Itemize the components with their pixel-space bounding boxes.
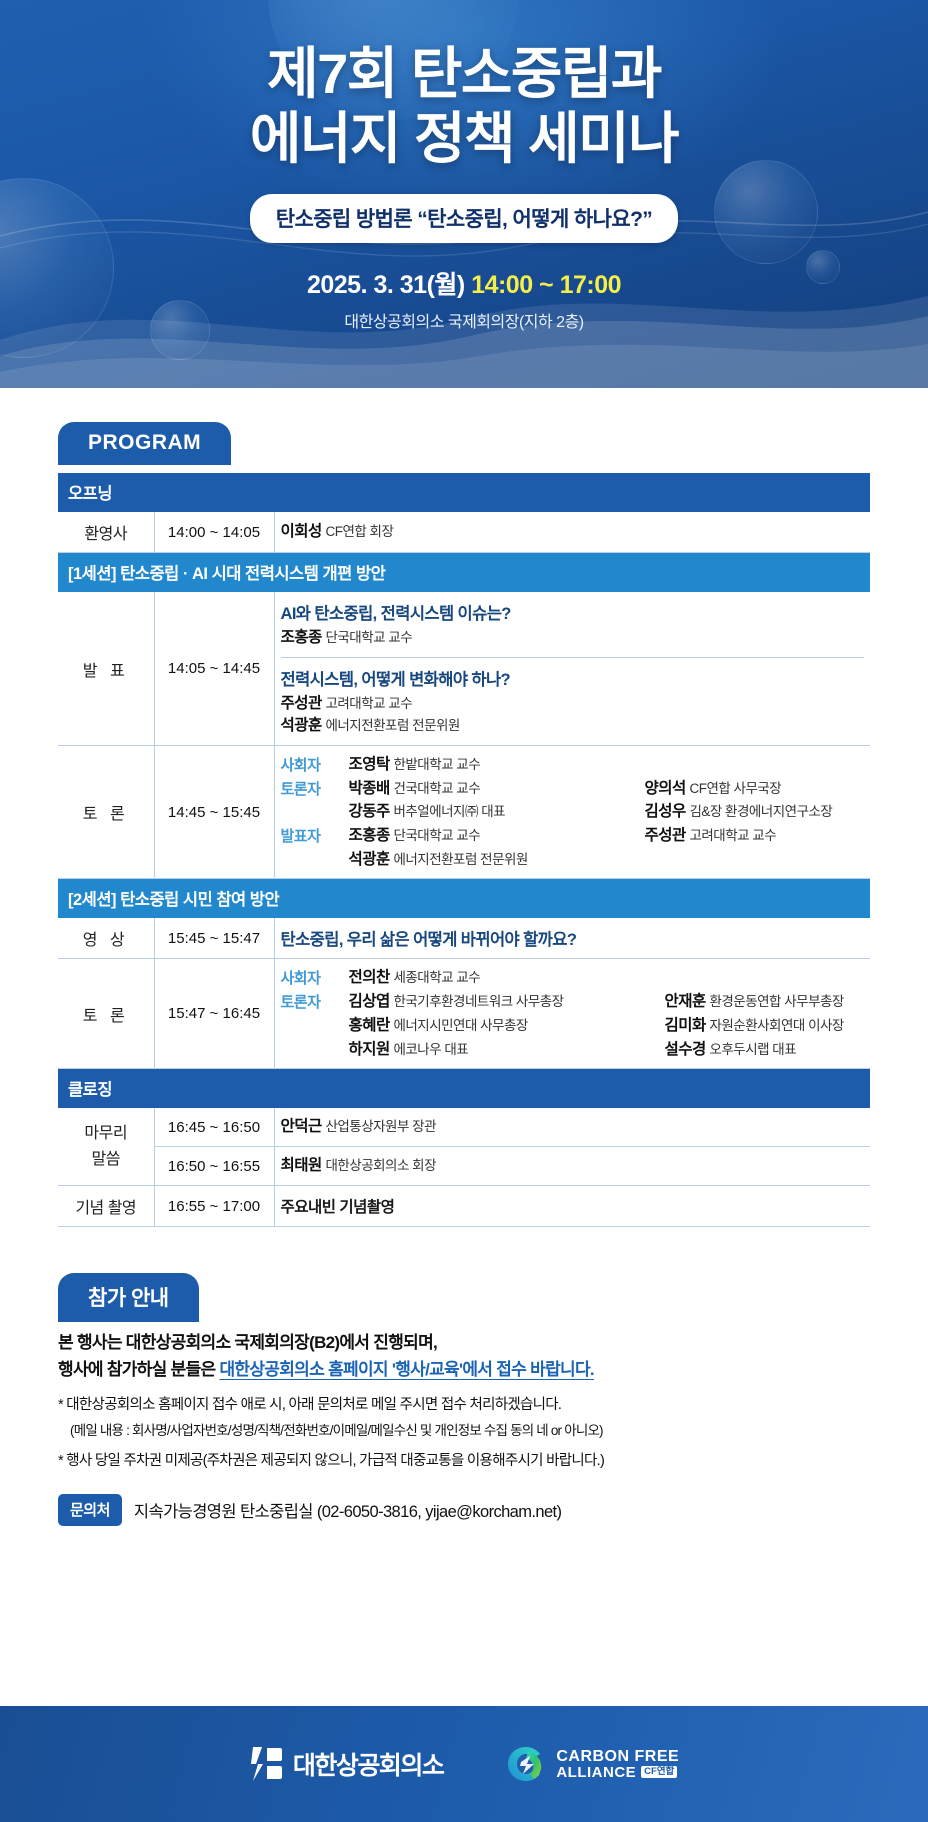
speaker-name: 안재훈	[665, 993, 706, 1010]
cfa-line-1: CARBON FREE	[556, 1748, 679, 1765]
band-opening: 오프닝	[58, 473, 870, 512]
speaker-name: 조홍종	[349, 827, 390, 844]
discussion-person: 설수경 오후두시랩 대표	[665, 1039, 865, 1061]
poster-title: 제7회 탄소중립과 에너지 정책 세미나	[0, 0, 928, 172]
contact-value: 지속가능경영원 탄소중립실 (02-6050-3816, yijae@korch…	[134, 1498, 562, 1522]
notice-lead: 본 행사는 대한상공회의소 국제회의장(B2)에서 진행되며, 행사에 참가하실…	[58, 1330, 870, 1383]
speaker-name: 주성관	[645, 827, 686, 844]
speaker-name: 석광훈	[281, 717, 322, 734]
row-kind: 토 론	[58, 746, 154, 879]
speaker-affiliation: 버추얼에너지㈜ 대표	[393, 804, 505, 819]
discussion-person: 강동주 버추얼에너지㈜ 대표	[349, 801, 639, 823]
row-kind: 마무리 말씀	[58, 1108, 154, 1186]
table-row-photo: 기념 촬영 16:55 ~ 17:00 주요내빈 기념촬영	[58, 1186, 870, 1227]
presentation-speaker: 조홍종 단국대학교 교수	[281, 627, 865, 649]
row-kind: 발 표	[58, 592, 154, 746]
presentation-item: AI와 탄소중립, 전력시스템 이슈는? 조홍종 단국대학교 교수	[281, 600, 865, 657]
contact-row: 문의처 지속가능경영원 탄소중립실 (02-6050-3816, yijae@k…	[58, 1494, 870, 1526]
discussion-grid: 사회자 전의찬 세종대학교 교수 토론자	[281, 967, 865, 1060]
speaker-name: 주성관	[281, 695, 322, 712]
speaker-name: 홍혜란	[349, 1017, 390, 1034]
event-time: 14:00 ~ 17:00	[471, 271, 621, 299]
band-closing-label: 클로징	[58, 1069, 870, 1109]
speaker-name: 석광훈	[349, 851, 390, 868]
poster-subtitle: 탄소중립 방법론 “탄소중립, 어떻게 하나요?”	[250, 194, 678, 243]
row-time: 14:05 ~ 14:45	[154, 592, 274, 746]
row-kind: 토 론	[58, 959, 154, 1069]
row-content: 이회성 CF연합 회장	[274, 512, 870, 553]
table-row-video: 영 상 15:45 ~ 15:47 탄소중립, 우리 삶은 어떻게 바뀌어야 할…	[58, 918, 870, 959]
discussion-person: 김성우 김&장 환경에너지연구소장	[645, 801, 865, 823]
row-kind: 영 상	[58, 918, 154, 959]
speaker-affiliation: 한국기후환경네트워크 사무총장	[393, 994, 563, 1009]
discussion-person: 홍혜란 에너지시민연대 사무총장	[349, 1015, 659, 1037]
presentation-speaker: 석광훈 에너지전환포럼 전문위원	[281, 715, 865, 737]
discussion-person: 석광훈 에너지전환포럼 전문위원	[349, 849, 639, 871]
row-content: 안덕근 산업통상자원부 장관	[274, 1108, 870, 1147]
speaker-affiliation: 고려대학교 교수	[325, 696, 412, 711]
table-row-discussion-1: 토 론 14:45 ~ 15:45 사회자 조영탁 한밭대학교 교수	[58, 746, 870, 879]
speaker-affiliation: 단국대학교 교수	[393, 828, 480, 843]
speaker-affiliation: 한밭대학교 교수	[393, 757, 480, 772]
speaker-affiliation: 오후두시랩 대표	[709, 1042, 796, 1057]
table-row-presentation: 발 표 14:05 ~ 14:45 AI와 탄소중립, 전력시스템 이슈는? 조…	[58, 592, 870, 746]
notice-tab-row: 참가 안내	[58, 1273, 870, 1322]
closing-kind-line-1: 마무리	[84, 1125, 127, 1142]
speaker-affiliation: CF연합 회장	[325, 524, 393, 539]
speaker-name: 설수경	[665, 1041, 706, 1058]
row-content: 탄소중립, 우리 삶은 어떻게 바뀌어야 할까요?	[274, 918, 870, 959]
speaker-name: 김미화	[665, 1017, 706, 1034]
seminar-poster: 제7회 탄소중립과 에너지 정책 세미나 탄소중립 방법론 “탄소중립, 어떻게…	[0, 0, 928, 1822]
speaker-name: 전의찬	[349, 969, 390, 986]
table-row-discussion-2: 토 론 15:47 ~ 16:45 사회자 전의찬 세종대학교 교수	[58, 959, 870, 1069]
table-row-closing-1: 마무리 말씀 16:45 ~ 16:50 안덕근 산업통상자원부 장관	[58, 1108, 870, 1147]
band-opening-label: 오프닝	[58, 473, 870, 512]
row-time: 16:50 ~ 16:55	[154, 1147, 274, 1186]
notice-star-1: * 대한상공회의소 홈페이지 접수 애로 시, 아래 문의처로 메일 주시면 접…	[58, 1395, 870, 1417]
speaker-name: 강동주	[349, 803, 390, 820]
speaker-affiliation: 세종대학교 교수	[393, 970, 480, 985]
speaker-name: 최태원	[281, 1157, 322, 1174]
photo-text: 주요내빈 기념촬영	[281, 1199, 395, 1216]
speaker-name: 양의석	[645, 780, 686, 797]
program-tab-row: PROGRAM	[58, 422, 870, 465]
band-session1-label: [1세션] 탄소중립 · AI 시대 전력시스템 개편 방안	[58, 553, 870, 593]
speaker-affiliation: 김&장 환경에너지연구소장	[689, 804, 832, 819]
presentation-item: 전력시스템, 어떻게 변화해야 하나? 주성관 고려대학교 교수 석광훈 에너지…	[281, 657, 865, 737]
notice-section-tab: 참가 안내	[58, 1273, 199, 1322]
kcci-logo: 대한상공회의소	[249, 1745, 444, 1783]
speaker-affiliation: 단국대학교 교수	[325, 630, 412, 645]
speaker-name: 하지원	[349, 1041, 390, 1058]
speaker-name: 김성우	[645, 803, 686, 820]
speaker-affiliation: 자원순환사회연대 이사장	[709, 1018, 843, 1033]
presentation-topic: 전력시스템, 어떻게 변화해야 하나?	[281, 666, 865, 690]
discussion-role: 토론자	[281, 778, 343, 799]
speaker-name: 조홍종	[281, 629, 322, 646]
event-datetime: 2025. 3. 31(월) 14:00 ~ 17:00	[0, 265, 928, 301]
discussion-role: 토론자	[281, 991, 343, 1012]
row-time: 16:55 ~ 17:00	[154, 1186, 274, 1227]
notice-lead-line-1: 본 행사는 대한상공회의소 국제회의장(B2)에서 진행되며,	[58, 1330, 870, 1356]
notice-block: 본 행사는 대한상공회의소 국제회의장(B2)에서 진행되며, 행사에 참가하실…	[58, 1330, 870, 1526]
speaker-name: 안덕근	[281, 1118, 322, 1135]
event-venue: 대한상공회의소 국제회의장(지하 2층)	[0, 308, 928, 332]
event-date: 2025. 3. 31(월)	[307, 271, 465, 299]
speaker-affiliation: CF연합 사무국장	[689, 781, 781, 796]
discussion-person: 안재훈 환경운동연합 사무부총장	[665, 991, 865, 1013]
row-time: 14:00 ~ 14:05	[154, 512, 274, 553]
speaker-affiliation: 에너지시민연대 사무총장	[393, 1018, 527, 1033]
presentation-topic: AI와 탄소중립, 전력시스템 이슈는?	[281, 600, 865, 624]
discussion-person: 조영탁 한밭대학교 교수	[349, 754, 639, 776]
discussion-person: 전의찬 세종대학교 교수	[349, 967, 659, 989]
speaker-affiliation: 에너지전환포럼 전문위원	[325, 718, 459, 733]
row-time: 15:47 ~ 16:45	[154, 959, 274, 1069]
row-time: 14:45 ~ 15:45	[154, 746, 274, 879]
speaker-name: 박종배	[349, 780, 390, 797]
speaker-affiliation: 환경운동연합 사무부총장	[709, 994, 843, 1009]
cfa-emblem-icon	[505, 1744, 547, 1784]
discussion-person: 조홍종 단국대학교 교수	[349, 825, 639, 847]
row-kind: 환영사	[58, 512, 154, 553]
registration-link[interactable]: 대한상공회의소 홈페이지 '행사/교육'에서 접수 바랍니다.	[219, 1360, 593, 1379]
row-content: 최태원 대한상공회의소 회장	[274, 1147, 870, 1186]
row-kind: 기념 촬영	[58, 1186, 154, 1227]
discussion-person: 김상엽 한국기후환경네트워크 사무총장	[349, 991, 659, 1013]
speaker-affiliation: 에너지전환포럼 전문위원	[393, 852, 527, 867]
speaker-affiliation: 에코나우 대표	[393, 1042, 468, 1057]
hero-banner: 제7회 탄소중립과 에너지 정책 세미나 탄소중립 방법론 “탄소중립, 어떻게…	[0, 0, 928, 388]
notice-lead-prefix: 행사에 참가하실 분들은	[58, 1360, 219, 1379]
row-content: 주요내빈 기념촬영	[274, 1186, 870, 1227]
notice-lead-line-2: 행사에 참가하실 분들은 대한상공회의소 홈페이지 '행사/교육'에서 접수 바…	[58, 1357, 870, 1383]
discussion-person: 박종배 건국대학교 교수	[349, 778, 639, 800]
speaker-affiliation: 건국대학교 교수	[393, 781, 480, 796]
band-session1: [1세션] 탄소중립 · AI 시대 전력시스템 개편 방안	[58, 553, 870, 593]
program-table: 오프닝 환영사 14:00 ~ 14:05 이회성 CF연합 회장 [1세션] …	[58, 473, 870, 1227]
band-closing: 클로징	[58, 1069, 870, 1109]
table-row-closing-2: 16:50 ~ 16:55 최태원 대한상공회의소 회장	[58, 1147, 870, 1186]
video-topic: 탄소중립, 우리 삶은 어떻게 바뀌어야 할까요?	[281, 926, 865, 950]
band-session2: [2세션] 탄소중립 시민 참여 방안	[58, 879, 870, 919]
band-session2-label: [2세션] 탄소중립 시민 참여 방안	[58, 879, 870, 919]
title-line-1: 제7회 탄소중립과	[0, 42, 928, 107]
discussion-role: 발표자	[281, 825, 343, 846]
title-line-2: 에너지 정책 세미나	[0, 107, 928, 172]
speaker-affiliation: 대한상공회의소 회장	[325, 1158, 436, 1173]
row-content: 사회자 전의찬 세종대학교 교수 토론자	[274, 959, 870, 1069]
speaker-name: 김상엽	[349, 993, 390, 1010]
carbon-free-alliance-logo: CARBON FREE ALLIANCE CF연합	[505, 1744, 679, 1784]
closing-kind-line-2: 말씀	[92, 1151, 120, 1168]
notice-star-2: * 행사 당일 주차권 미제공(주차권은 제공되지 않으니, 가급적 대중교통을…	[58, 1451, 870, 1473]
cfa-wordmark: CARBON FREE ALLIANCE CF연합	[556, 1749, 679, 1780]
program-section-tab: PROGRAM	[58, 422, 231, 465]
discussion-person: 양의석 CF연합 사무국장	[645, 778, 865, 800]
row-content: AI와 탄소중립, 전력시스템 이슈는? 조홍종 단국대학교 교수 전력시스템,…	[274, 592, 870, 746]
row-time: 16:45 ~ 16:50	[154, 1108, 274, 1147]
table-row-welcome: 환영사 14:00 ~ 14:05 이회성 CF연합 회장	[58, 512, 870, 553]
presentation-speaker: 주성관 고려대학교 교수	[281, 693, 865, 715]
discussion-role: 사회자	[281, 754, 343, 775]
contact-label-chip: 문의처	[58, 1494, 122, 1526]
discussion-person: 주성관 고려대학교 교수	[645, 825, 865, 847]
speaker-name: 조영탁	[349, 756, 390, 773]
kcci-name: 대한상공회의소	[293, 1746, 444, 1782]
discussion-role: 사회자	[281, 967, 343, 988]
row-content: 사회자 조영탁 한밭대학교 교수 토론자	[274, 746, 870, 879]
footer-bar: 대한상공회의소	[0, 1706, 928, 1822]
kcci-emblem-icon	[249, 1745, 283, 1783]
cfa-badge: CF연합	[641, 1766, 677, 1778]
speaker-affiliation: 산업통상자원부 장관	[325, 1119, 436, 1134]
discussion-person: 김미화 자원순환사회연대 이사장	[665, 1015, 865, 1037]
speaker-affiliation: 고려대학교 교수	[689, 828, 776, 843]
discussion-grid: 사회자 조영탁 한밭대학교 교수 토론자	[281, 754, 865, 870]
row-time: 15:45 ~ 15:47	[154, 918, 274, 959]
cfa-line-2: ALLIANCE	[556, 1765, 636, 1780]
notice-star-1-sub: (메일 내용 : 회사명/사업자번호/성명/직책/전화번호/이메일/메일수신 및…	[58, 1419, 870, 1439]
speaker-name: 이회성	[281, 523, 322, 540]
discussion-person: 하지원 에코나우 대표	[349, 1039, 659, 1061]
